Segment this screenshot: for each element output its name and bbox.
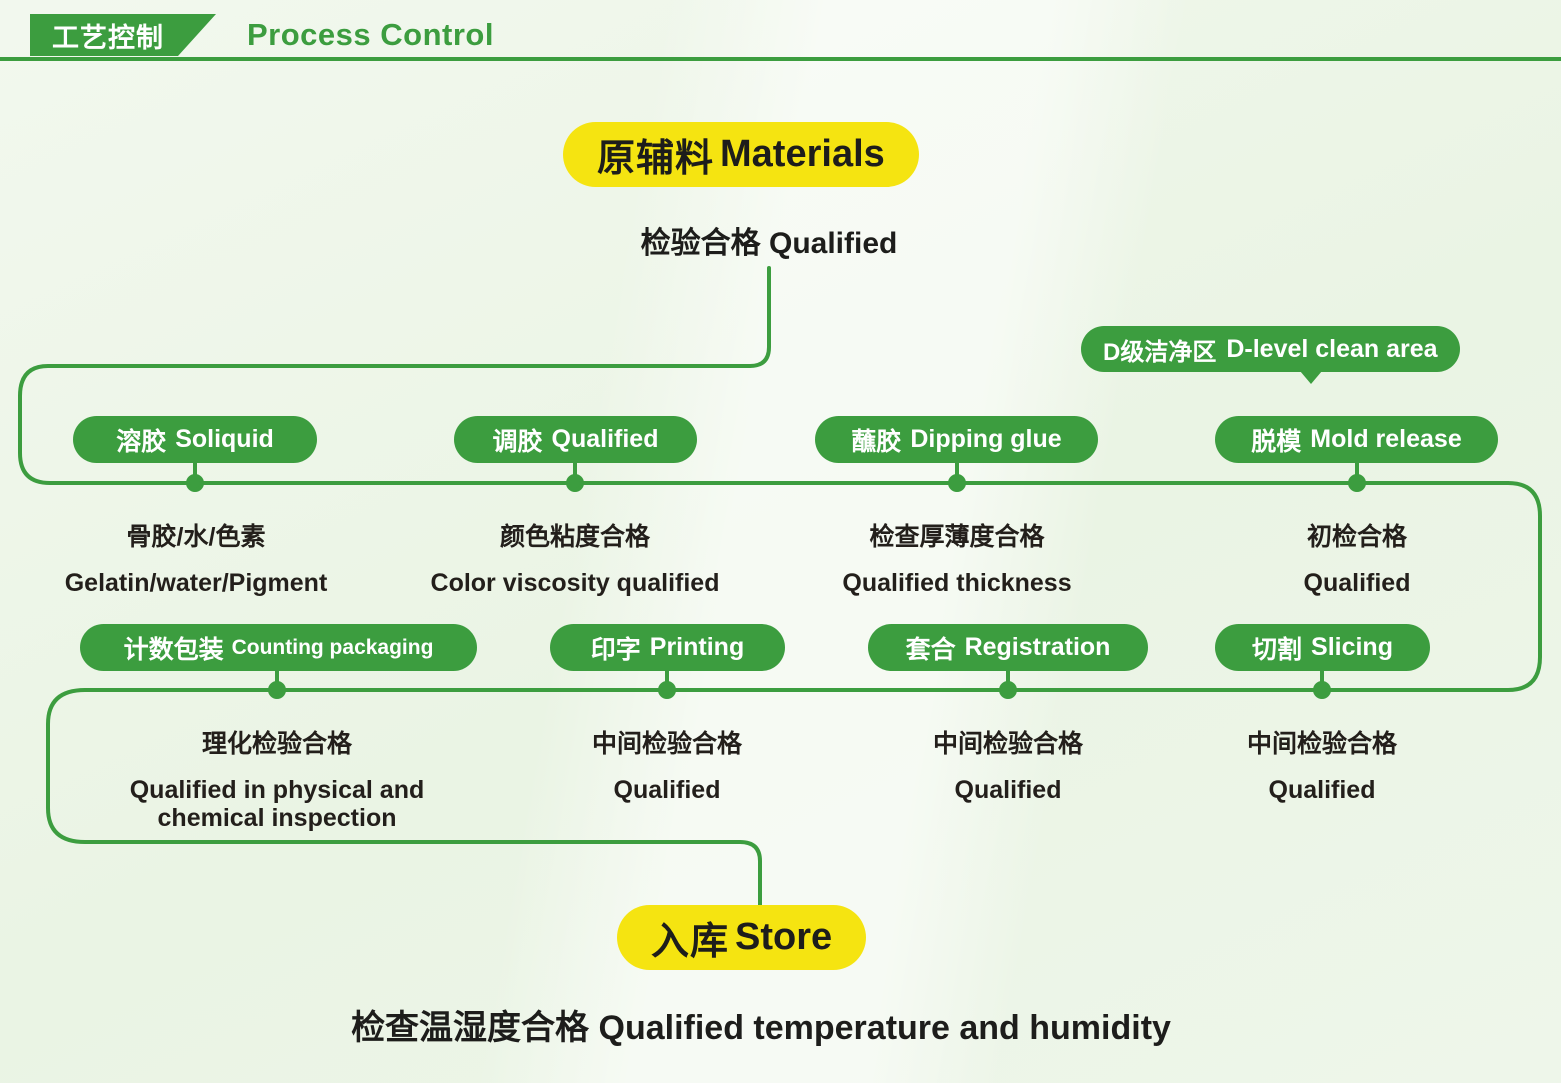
caption-mold-release-en: Qualified: [1162, 569, 1552, 597]
step-glue-mixing[interactable]: 调胶 Qualified: [454, 416, 697, 463]
step-soliquid[interactable]: 溶胶 Soliquid: [73, 416, 317, 463]
step-glue-mixing-zh: 调胶: [493, 422, 543, 458]
caption-mold-release-zh: 初检合格: [1162, 523, 1552, 551]
node-store-zh: 入库: [651, 910, 729, 965]
step-registration-en: Registration: [965, 633, 1111, 662]
caption-printing: 中间检验合格 Qualified: [472, 712, 862, 822]
caption-counting-packaging-zh: 理化检验合格: [82, 730, 472, 758]
caption-printing-en: Qualified: [472, 776, 862, 804]
step-dipping-glue[interactable]: 蘸胶 Dipping glue: [815, 416, 1098, 463]
step-slicing[interactable]: 切割 Slicing: [1215, 624, 1430, 671]
step-slicing-zh: 切割: [1252, 630, 1302, 666]
caption-materials: 检验合格 Qualified: [519, 218, 1019, 262]
caption-counting-packaging-en: Qualified in physical and chemical inspe…: [82, 776, 472, 832]
step-printing[interactable]: 印字 Printing: [550, 624, 785, 671]
step-mold-release-zh: 脱模: [1251, 422, 1301, 458]
clean-area-en: D-level clean area: [1226, 335, 1437, 364]
caption-glue-mixing: 颜色粘度合格 Color viscosity qualified: [380, 505, 770, 615]
node-materials[interactable]: 原辅料 Materials: [563, 122, 919, 187]
caption-glue-mixing-zh: 颜色粘度合格: [380, 523, 770, 551]
caption-mold-release: 初检合格 Qualified: [1162, 505, 1552, 615]
step-printing-en: Printing: [650, 633, 744, 662]
step-soliquid-en: Soliquid: [175, 425, 274, 454]
step-soliquid-zh: 溶胶: [116, 422, 166, 458]
step-counting-packaging[interactable]: 计数包装 Counting packaging: [80, 624, 477, 671]
step-registration-zh: 套合: [906, 630, 956, 666]
clean-area-badge[interactable]: D级洁净区 D-level clean area: [1081, 326, 1460, 372]
clean-area-zh: D级洁净区: [1103, 332, 1216, 367]
caption-glue-mixing-en: Color viscosity qualified: [380, 569, 770, 597]
caption-soliquid-en: Gelatin/water/Pigment: [0, 569, 392, 597]
step-glue-mixing-en: Qualified: [552, 425, 659, 454]
node-materials-zh: 原辅料: [597, 127, 714, 182]
caption-dipping-glue: 检查厚薄度合格 Qualified thickness: [762, 505, 1152, 615]
node-store[interactable]: 入库 Store: [617, 905, 866, 970]
node-materials-en: Materials: [720, 133, 885, 176]
clean-area-pointer-icon: [1300, 371, 1322, 384]
caption-soliquid: 骨胶/水/色素 Gelatin/water/Pigment: [0, 505, 392, 615]
caption-slicing-zh: 中间检验合格: [1127, 730, 1517, 758]
step-dipping-glue-en: Dipping glue: [910, 425, 1061, 454]
caption-counting-packaging: 理化检验合格 Qualified in physical and chemica…: [82, 712, 472, 850]
step-counting-packaging-en: Counting packaging: [232, 636, 434, 660]
caption-soliquid-zh: 骨胶/水/色素: [0, 523, 392, 551]
step-mold-release-en: Mold release: [1310, 425, 1461, 454]
caption-slicing-en: Qualified: [1127, 776, 1517, 804]
step-counting-packaging-zh: 计数包装: [124, 630, 224, 666]
step-slicing-en: Slicing: [1311, 633, 1393, 662]
step-dipping-glue-zh: 蘸胶: [851, 422, 901, 458]
caption-printing-zh: 中间检验合格: [472, 730, 862, 758]
caption-slicing: 中间检验合格 Qualified: [1127, 712, 1517, 822]
caption-dipping-glue-zh: 检查厚薄度合格: [762, 523, 1152, 551]
caption-store: 检查温湿度合格 Qualified temperature and humidi…: [181, 1000, 1341, 1049]
step-registration[interactable]: 套合 Registration: [868, 624, 1148, 671]
caption-dipping-glue-en: Qualified thickness: [762, 569, 1152, 597]
step-mold-release[interactable]: 脱模 Mold release: [1215, 416, 1498, 463]
step-printing-zh: 印字: [591, 630, 641, 666]
node-store-en: Store: [735, 916, 832, 959]
